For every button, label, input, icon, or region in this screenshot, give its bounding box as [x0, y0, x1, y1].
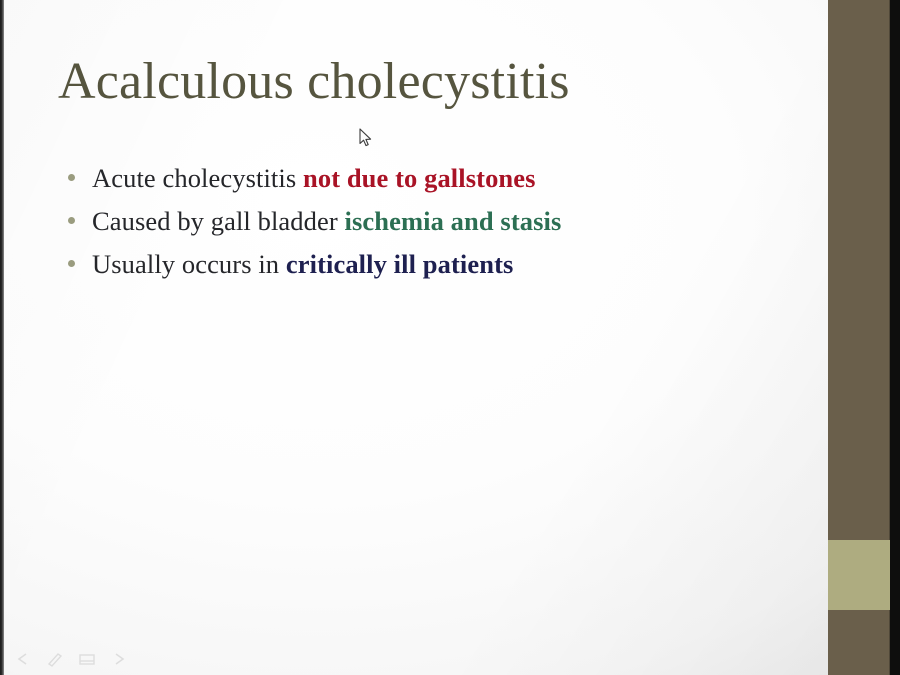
slide-canvas[interactable]: Acalculous cholecystitis Acute cholecyst… [4, 0, 828, 675]
pen-icon[interactable] [46, 651, 64, 667]
bullet-item-3-plain: Usually occurs in [92, 249, 286, 279]
slide-title: Acalculous cholecystitis [58, 54, 570, 110]
mouse-cursor-icon [359, 128, 373, 147]
bullet-item-1-emphasis: not due to gallstones [303, 163, 536, 193]
bullet-item-3-text: Usually occurs in critically ill patient… [92, 249, 513, 280]
slide-side-decoration-band [828, 0, 890, 675]
previous-slide-icon[interactable] [14, 651, 32, 667]
bullet-item-1: Acute cholecystitis not due to gallstone… [64, 163, 784, 206]
slide-bullet-list: Acute cholecystitis not due to gallstone… [64, 163, 784, 292]
bullet-item-3-emphasis: critically ill patients [286, 249, 514, 279]
bullet-item-1-plain: Acute cholecystitis [92, 163, 303, 193]
bullet-item-2-text: Caused by gall bladder ischemia and stas… [92, 206, 561, 237]
slide-menu-icon[interactable] [78, 651, 96, 667]
bullet-item-2: Caused by gall bladder ischemia and stas… [64, 206, 784, 249]
slide-side-decoration-accent [828, 540, 890, 610]
presentation-slideshow-window: Acalculous cholecystitis Acute cholecyst… [0, 0, 900, 675]
window-right-border [890, 0, 900, 675]
next-slide-icon[interactable] [110, 651, 128, 667]
bullet-point-icon [64, 272, 92, 273]
bullet-point-icon [64, 229, 92, 230]
slideshow-control-bar[interactable] [14, 651, 128, 667]
bullet-item-1-text: Acute cholecystitis not due to gallstone… [92, 163, 536, 194]
bullet-point-icon [64, 186, 92, 187]
bullet-item-2-plain: Caused by gall bladder [92, 206, 345, 236]
bullet-item-3: Usually occurs in critically ill patient… [64, 249, 784, 292]
bullet-item-2-emphasis: ischemia and stasis [345, 206, 562, 236]
